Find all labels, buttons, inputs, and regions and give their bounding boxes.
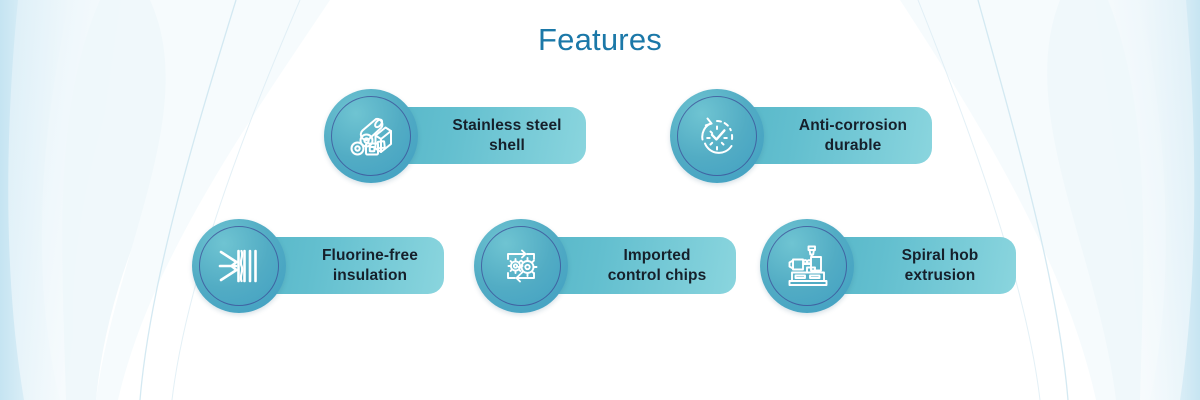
feature-item-fluorine-free-insulation[interactable]: Fluorine-free insulation xyxy=(192,219,444,313)
clock-check-icon xyxy=(691,110,743,162)
thermal-insulation-icon xyxy=(214,241,264,291)
background-decoration xyxy=(0,0,1200,400)
feature-item-spiral-hob-extrusion[interactable]: Spiral hob extrusion xyxy=(760,219,1016,313)
feature-icon-badge xyxy=(760,219,854,313)
feature-item-imported-control-chips[interactable]: Imported control chips xyxy=(474,219,736,313)
lathe-machine-icon xyxy=(781,240,833,292)
gears-cycle-icon xyxy=(495,240,547,292)
feature-icon-badge xyxy=(324,89,418,183)
feature-icon-badge xyxy=(670,89,764,183)
feature-label: Imported control chips xyxy=(608,246,707,285)
steel-pipes-icon xyxy=(345,110,397,162)
feature-label: Fluorine-free insulation xyxy=(322,246,418,285)
feature-item-stainless-steel-shell[interactable]: Stainless steel shell xyxy=(324,89,586,183)
feature-label: Spiral hob extrusion xyxy=(902,246,979,285)
feature-icon-badge xyxy=(474,219,568,313)
page-title: Features xyxy=(0,22,1200,58)
feature-label: Anti-corrosion durable xyxy=(799,116,907,155)
feature-icon-badge xyxy=(192,219,286,313)
feature-label: Stainless steel shell xyxy=(452,116,561,155)
feature-item-anti-corrosion-durable[interactable]: Anti-corrosion durable xyxy=(670,89,932,183)
features-infographic: Features Stainless steel shell xyxy=(0,0,1200,400)
